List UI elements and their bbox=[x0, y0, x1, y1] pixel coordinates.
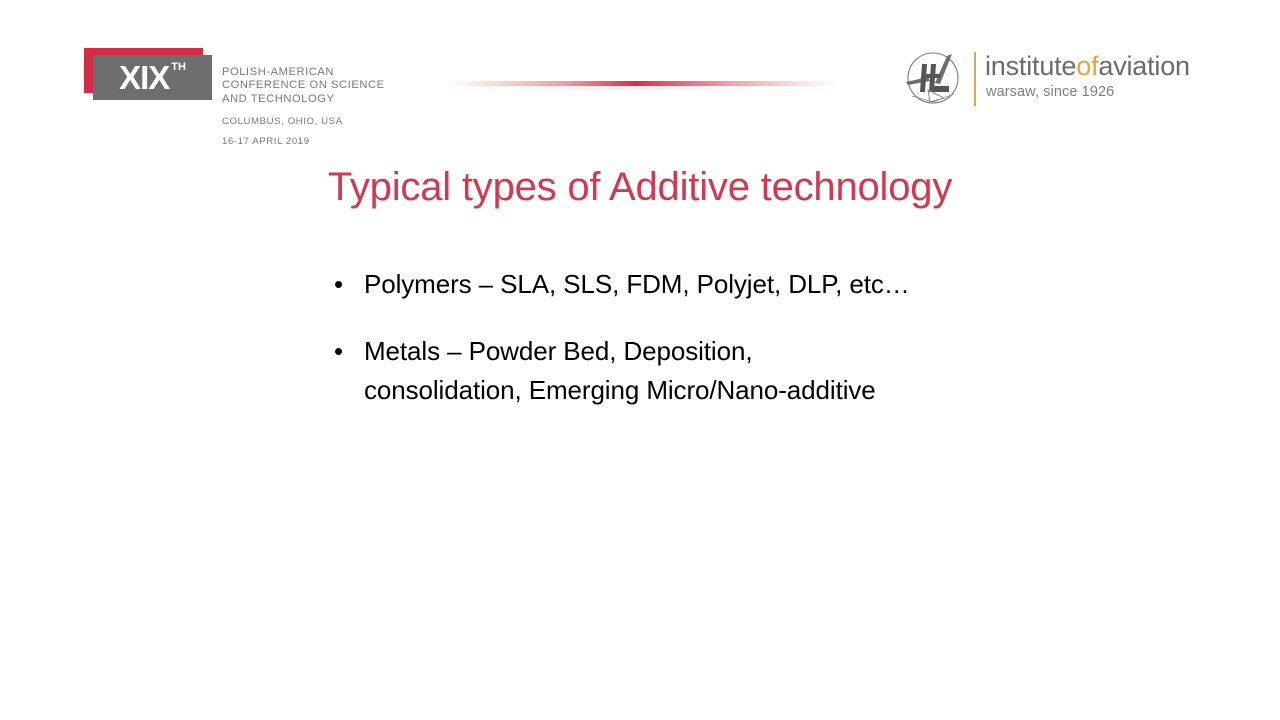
list-item: • Metals – Powder Bed, Deposition, conso… bbox=[330, 332, 1030, 410]
conference-logo: XIX TH POLISH-AMERICAN CONFERENCE ON SCI… bbox=[84, 48, 424, 148]
conference-location: COLUMBUS, OHIO, USA bbox=[222, 116, 427, 128]
conference-name-line-3: AND TECHNOLOGY bbox=[222, 93, 427, 106]
conference-logo-mark: XIX TH bbox=[84, 48, 210, 100]
page-title: Typical types of Additive technology bbox=[0, 161, 1280, 213]
conference-name-line-2: CONFERENCE ON SCIENCE bbox=[222, 79, 427, 92]
bullet-text-line: consolidation, Emerging Micro/Nano-addit… bbox=[364, 371, 876, 410]
decorative-divider-glow bbox=[447, 86, 839, 90]
bullet-text: Metals – Powder Bed, Deposition, consoli… bbox=[364, 332, 876, 410]
institute-name-part-1: institute bbox=[985, 51, 1076, 81]
bullet-marker-icon: • bbox=[330, 265, 364, 304]
conference-logo-text: POLISH-AMERICAN CONFERENCE ON SCIENCE AN… bbox=[222, 66, 427, 148]
institute-emblem-icon bbox=[900, 50, 966, 108]
bullet-text: Polymers – SLA, SLS, FDM, Polyjet, DLP, … bbox=[364, 265, 910, 304]
logo-mark-text: XIX TH bbox=[93, 55, 212, 100]
conference-dates: 16-17 APRIL 2019 bbox=[222, 136, 427, 148]
slide-canvas: XIX TH POLISH-AMERICAN CONFERENCE ON SCI… bbox=[0, 0, 1280, 720]
bullet-marker-icon: • bbox=[330, 332, 364, 371]
institute-name: instituteofaviation bbox=[985, 50, 1190, 83]
institute-name-part-3: aviation bbox=[1098, 51, 1189, 81]
institute-name-part-2: of bbox=[1076, 51, 1098, 81]
bullet-list: • Polymers – SLA, SLS, FDM, Polyjet, DLP… bbox=[330, 265, 1030, 438]
institute-divider-bar bbox=[974, 52, 976, 106]
conference-name-line-1: POLISH-AMERICAN bbox=[222, 66, 427, 79]
institute-of-aviation-logo: instituteofaviation warsaw, since 1926 bbox=[900, 50, 1192, 108]
institute-tagline: warsaw, since 1926 bbox=[986, 83, 1114, 101]
logo-roman-numeral: XIX bbox=[119, 61, 169, 94]
logo-ordinal-suffix: TH bbox=[171, 62, 186, 73]
list-item: • Polymers – SLA, SLS, FDM, Polyjet, DLP… bbox=[330, 265, 1030, 304]
bullet-text-line: Polymers – SLA, SLS, FDM, Polyjet, DLP, … bbox=[364, 265, 910, 304]
bullet-text-line: Metals – Powder Bed, Deposition, bbox=[364, 332, 876, 371]
